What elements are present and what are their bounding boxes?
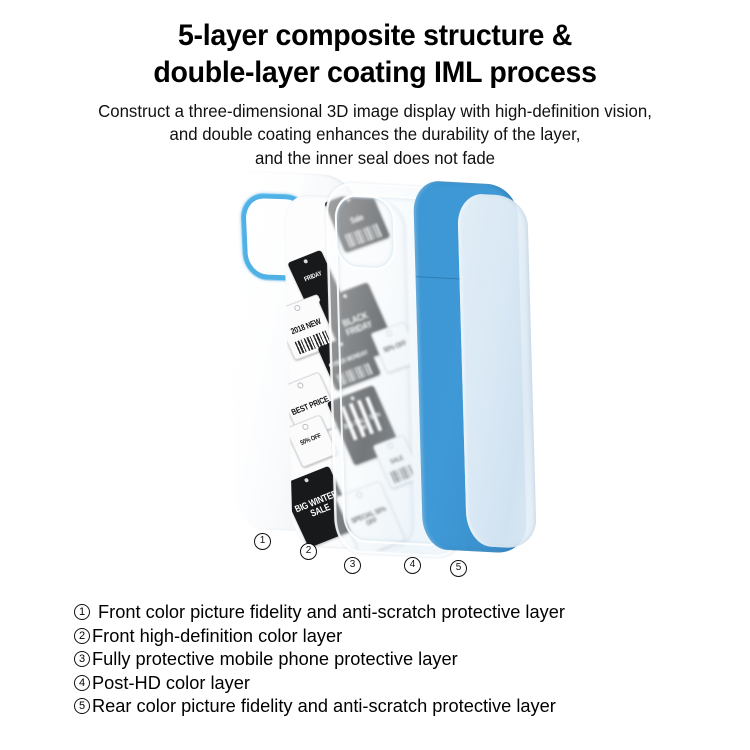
title-line-2: double-layer coating IML process: [19, 55, 732, 92]
legend-label-4: Post-HD color layer: [92, 671, 250, 695]
legend-label-5: Rear color picture fidelity and anti-scr…: [92, 694, 556, 718]
legend-item-2: 2 Front high-definition color layer: [74, 624, 724, 648]
header: 5-layer composite structure & double-lay…: [0, 0, 750, 170]
layer-5-panel: [457, 193, 537, 549]
legend-item-4: 4 Post-HD color layer: [74, 671, 724, 695]
legend-marker-2: 2: [74, 628, 90, 644]
legend-item-3: 3 Fully protective mobile phone protecti…: [74, 647, 724, 671]
legend-marker-4: 4: [74, 675, 90, 691]
subtitle-line-2: and double coating enhances the durabili…: [15, 123, 735, 146]
title-line-1: 5-layer composite structure &: [19, 18, 732, 55]
exploded-layer-diagram: Sale FRIDAY 2018 NEW BLACK FRIDAY CYBER …: [0, 165, 750, 590]
callout-marker-3: 3: [344, 557, 361, 574]
legend-label-2: Front high-definition color layer: [92, 624, 342, 648]
callout-marker-5: 5: [450, 560, 467, 577]
subtitle-line-1: Construct a three-dimensional 3D image d…: [15, 100, 735, 123]
infographic-page: 5-layer composite structure & double-lay…: [0, 0, 750, 750]
callout-marker-1: 1: [254, 533, 271, 550]
legend-marker-3: 3: [74, 651, 90, 667]
legend-label-1: Front color picture fidelity and anti-sc…: [98, 600, 565, 624]
callout-marker-4: 4: [404, 557, 421, 574]
legend-item-5: 5 Rear color picture fidelity and anti-s…: [74, 694, 724, 718]
page-title: 5-layer composite structure & double-lay…: [19, 0, 732, 91]
layer-5-rear-anti-scratch-sheet: [457, 193, 537, 549]
legend-list: 1 Front color picture fidelity and anti-…: [74, 600, 724, 718]
legend-item-1: 1 Front color picture fidelity and anti-…: [74, 600, 724, 624]
camera-cutout-icon: [334, 194, 396, 271]
page-subtitle: Construct a three-dimensional 3D image d…: [15, 100, 735, 170]
legend-label-3: Fully protective mobile phone protective…: [92, 647, 458, 671]
legend-marker-5: 5: [74, 698, 90, 714]
legend-marker-1: 1: [74, 604, 90, 620]
callout-marker-2: 2: [300, 543, 317, 560]
